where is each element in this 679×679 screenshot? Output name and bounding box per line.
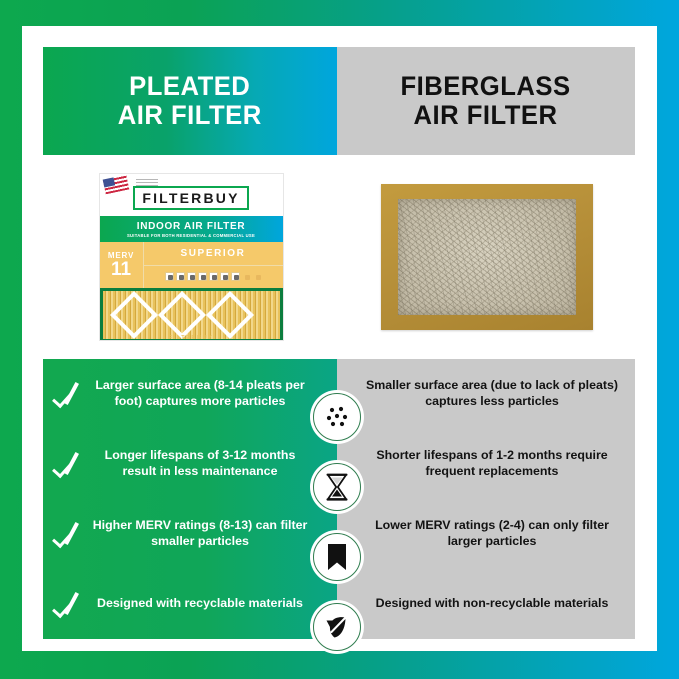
comparison-row: Lower MERV ratings (2-4) can only filter… [337, 499, 635, 569]
feature-icon-3 [187, 272, 196, 281]
hourglass-icon [313, 463, 361, 511]
filter-grade-label: SUPERIOR [144, 242, 283, 266]
pleated-benefit-text: Higher MERV ratings (8-13) can filter sm… [89, 518, 311, 550]
filter-footer-brand: FILTERBUY [100, 335, 283, 341]
header-band: PLEATED AIR FILTER FIBERGLASS AIR FILTER [43, 47, 635, 155]
pleated-filter-image: FILTERBUY INDOOR AIR FILTER SUITABLE FOR… [99, 173, 284, 341]
filter-banner-main: INDOOR AIR FILTER [137, 221, 246, 232]
header-fiberglass: FIBERGLASS AIR FILTER [337, 47, 635, 155]
fiberglass-drawback-text: Smaller surface area (due to lack of ple… [365, 378, 619, 410]
comparison-column-pleated: Larger surface area (8-14 pleats per foo… [43, 359, 337, 639]
fiberglass-drawback-text: Shorter lifespans of 1-2 months require … [365, 448, 619, 480]
pleated-benefit-text: Longer lifespans of 3-12 months result i… [89, 448, 311, 480]
check-icon [55, 519, 81, 549]
comparison-panel: Larger surface area (8-14 pleats per foo… [43, 359, 635, 639]
fiberglass-product-cell [339, 159, 635, 355]
filterbuy-brand-text: FILTERBUY [142, 190, 239, 206]
check-icon [55, 449, 81, 479]
comparison-column-fiberglass: Smaller surface area (due to lack of ple… [337, 359, 635, 639]
filter-feature-icon-row [144, 266, 283, 289]
filterbuy-logo: FILTERBUY [133, 186, 248, 210]
pleated-benefit-text: Larger surface area (8-14 pleats per foo… [89, 378, 311, 410]
feature-icon-2 [176, 272, 185, 281]
us-flag-icon [102, 175, 129, 195]
fiberglass-filter-image [381, 184, 593, 330]
merv-value: 11 [111, 260, 131, 279]
header-pleated-title: PLEATED AIR FILTER [118, 72, 262, 130]
feature-icon-8 [242, 272, 251, 281]
filter-grade-block: SUPERIOR [144, 242, 283, 288]
feature-icon-6 [220, 272, 229, 281]
comparison-row: Smaller surface area (due to lack of ple… [337, 359, 635, 429]
infographic-canvas: PLEATED AIR FILTER FIBERGLASS AIR FILTER… [22, 26, 657, 651]
recyclable-leaf-icon [313, 603, 361, 651]
check-icon [55, 379, 81, 409]
filter-box-top: FILTERBUY [100, 174, 283, 216]
fiberglass-drawback-text: Lower MERV ratings (2-4) can only filter… [365, 518, 619, 550]
filter-pleat-area: FILTERBUY [100, 288, 283, 341]
bookmark-icon [313, 533, 361, 581]
header-fiberglass-title: FIBERGLASS AIR FILTER [401, 72, 571, 130]
fiberglass-mesh [398, 199, 576, 315]
particles-icon [313, 393, 361, 441]
pleated-benefit-text: Designed with recyclable materials [89, 596, 311, 612]
feature-icon-5 [209, 272, 218, 281]
filter-box-fineprint [136, 179, 158, 186]
comparison-row: Larger surface area (8-14 pleats per foo… [43, 359, 337, 429]
pleat-diamond-3 [205, 291, 253, 339]
feature-icon-9 [253, 272, 262, 281]
filter-banner-sub: SUITABLE FOR BOTH RESIDENTIAL & COMMERCI… [127, 233, 255, 238]
pleat-diamond-2 [157, 291, 205, 339]
pleat-diamond-1 [109, 291, 157, 339]
filter-box-specs: MERV 11 SUPERIOR [100, 242, 283, 288]
fiberglass-drawback-text: Designed with non-recyclable materials [365, 596, 619, 612]
comparison-row: Shorter lifespans of 1-2 months require … [337, 429, 635, 499]
pleated-product-cell: FILTERBUY INDOOR AIR FILTER SUITABLE FOR… [43, 159, 339, 355]
pleat-media [103, 291, 280, 339]
comparison-row: Designed with non-recyclable materials [337, 569, 635, 639]
check-icon [55, 589, 81, 619]
feature-icon-1 [165, 272, 174, 281]
product-image-row: FILTERBUY INDOOR AIR FILTER SUITABLE FOR… [43, 159, 635, 355]
header-pleated: PLEATED AIR FILTER [43, 47, 337, 155]
comparison-infographic: PLEATED AIR FILTER FIBERGLASS AIR FILTER… [0, 0, 679, 679]
comparison-row: Higher MERV ratings (8-13) can filter sm… [43, 499, 337, 569]
feature-icon-4 [198, 272, 207, 281]
comparison-row: Designed with recyclable materials [43, 569, 337, 639]
merv-badge: MERV 11 [100, 242, 144, 288]
comparison-row: Longer lifespans of 3-12 months result i… [43, 429, 337, 499]
filter-box-banner: INDOOR AIR FILTER SUITABLE FOR BOTH RESI… [100, 216, 283, 242]
feature-icon-7 [231, 272, 240, 281]
